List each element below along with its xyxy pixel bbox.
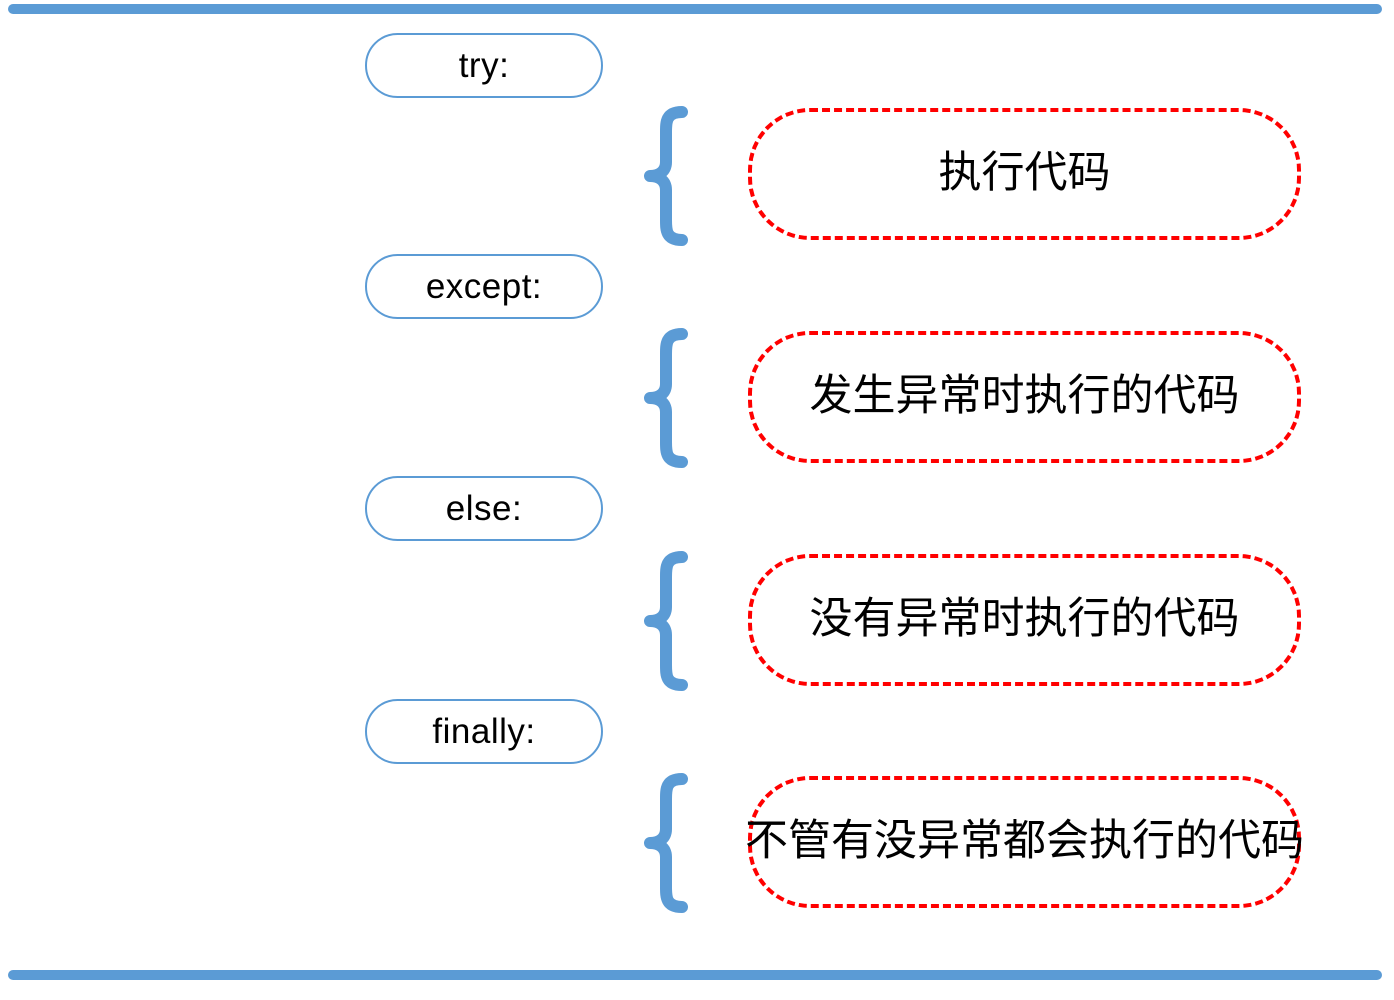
keyword-pill-try[interactable]: try: (365, 33, 603, 98)
code-block-finally: 不管有没异常都会执行的代码 (748, 776, 1301, 908)
code-block-except: 发生异常时执行的代码 (748, 331, 1301, 463)
keyword-pill-else[interactable]: else: (365, 476, 603, 541)
keyword-pill-except[interactable]: except: (365, 254, 603, 319)
keyword-label-except: except: (426, 269, 542, 304)
code-label-finally: 不管有没异常都会执行的代码 (745, 818, 1304, 865)
code-label-except: 发生异常时执行的代码 (810, 373, 1240, 420)
code-label-else: 没有异常时执行的代码 (810, 596, 1240, 643)
curly-brace-icon (636, 551, 696, 691)
code-label-try: 执行代码 (939, 150, 1111, 197)
code-block-try: 执行代码 (748, 108, 1301, 240)
keyword-pill-finally[interactable]: finally: (365, 699, 603, 764)
curly-brace-icon (636, 106, 696, 246)
keyword-label-else: else: (446, 491, 522, 526)
keyword-label-finally: finally: (432, 714, 535, 749)
keyword-label-try: try: (459, 48, 510, 83)
curly-brace-icon (636, 328, 696, 468)
top-divider (8, 4, 1382, 14)
curly-brace-icon (636, 773, 696, 913)
code-block-else: 没有异常时执行的代码 (748, 554, 1301, 686)
diagram-canvas: try: 执行代码 except: 发生异常时执行的代码 else: 没有异常时… (0, 0, 1394, 1000)
bottom-divider (8, 970, 1382, 980)
